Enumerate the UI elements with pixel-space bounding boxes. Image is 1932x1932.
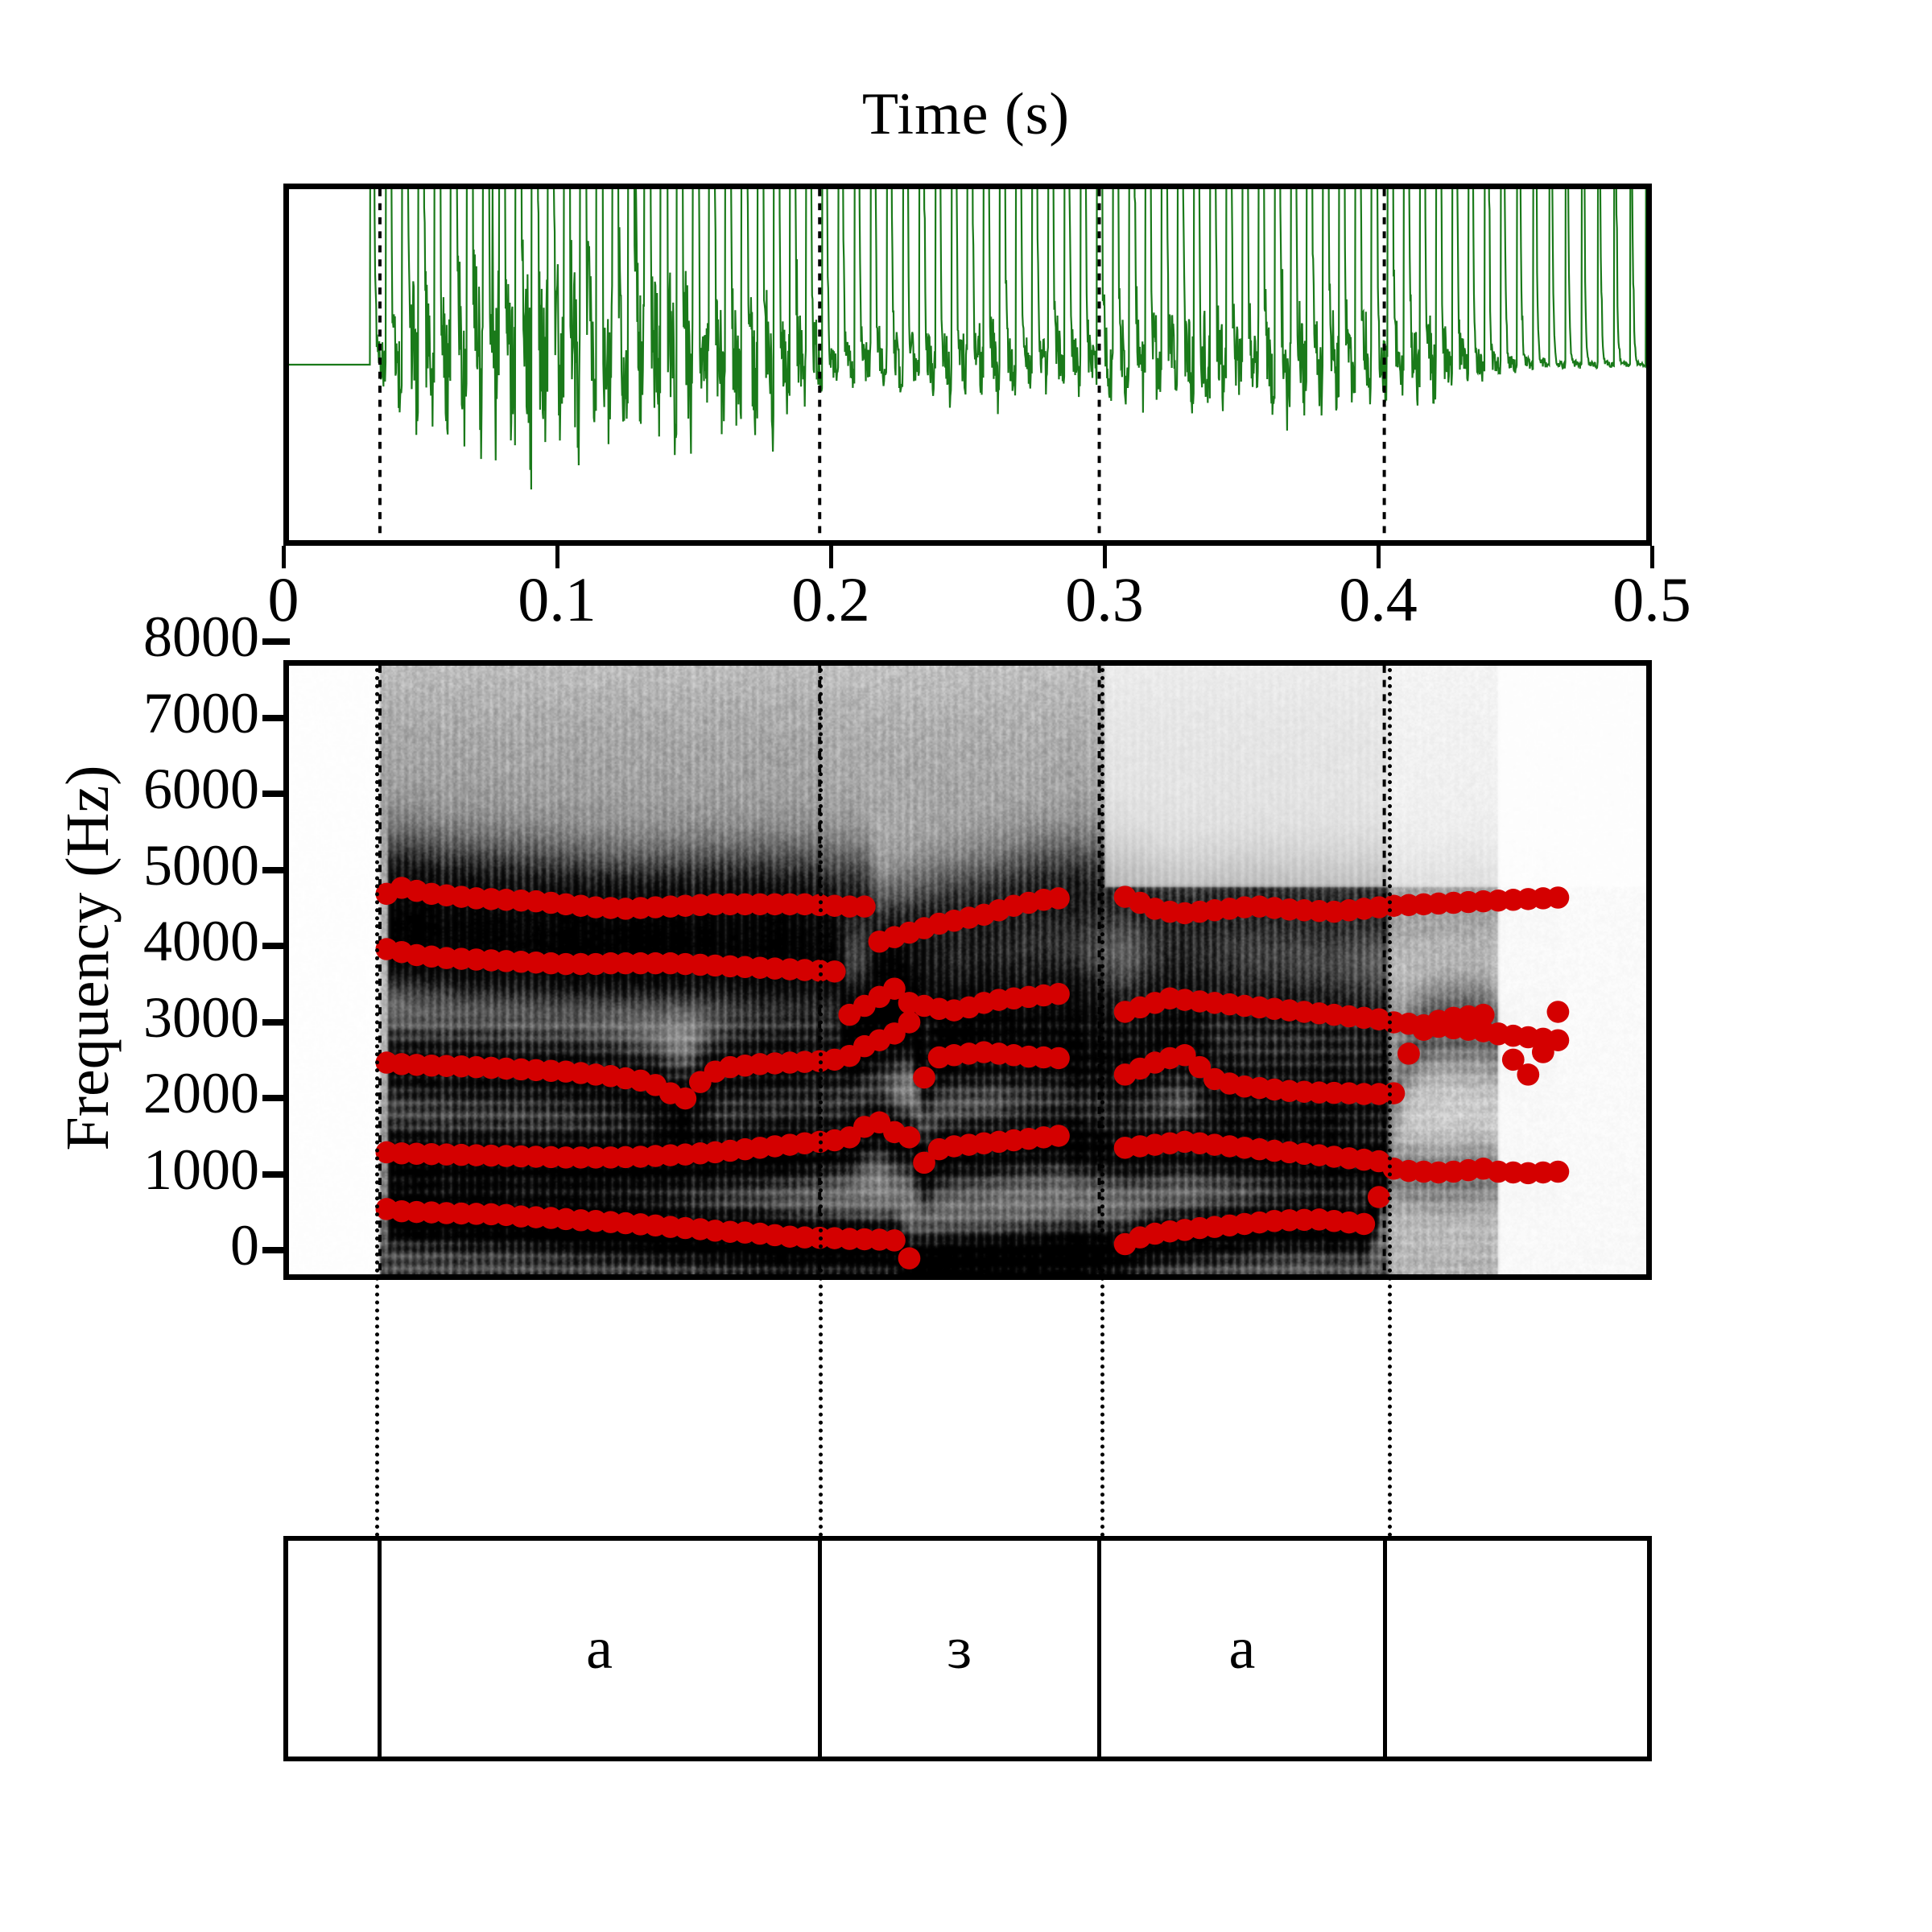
textgrid-interval[interactable]: ɜ <box>819 1541 1100 1757</box>
frequency-tick-mark <box>262 638 290 645</box>
formant-point <box>898 1126 921 1148</box>
formant-series-f4 <box>376 938 1570 1051</box>
textgrid-boundary[interactable] <box>818 1541 822 1757</box>
formant-point <box>913 1067 935 1088</box>
frequency-tick-label: 4000 <box>143 912 259 970</box>
frequency-tick-label: 7000 <box>143 684 259 742</box>
textgrid-tier[interactable]: aɜa <box>283 1536 1652 1761</box>
formant-point <box>1383 1082 1406 1104</box>
spectrogram-image <box>289 666 1646 1274</box>
frequency-tick-label: 8000 <box>143 608 259 666</box>
formant-point <box>1047 983 1070 1005</box>
formant-point <box>1547 1161 1570 1183</box>
formant-point <box>1047 1125 1070 1146</box>
textgrid-boundary[interactable] <box>1383 1541 1387 1757</box>
formant-point <box>1047 887 1070 909</box>
formant-series-f1 <box>376 1186 1390 1269</box>
textgrid-interval[interactable]: a <box>1100 1541 1385 1757</box>
waveform-panel <box>283 184 1652 546</box>
time-tick-label: 0.4 <box>1339 568 1418 631</box>
figure-root: Time (s) 00.10.20.30.40.5 Frequency (Hz)… <box>0 0 1932 1932</box>
page-title: Time (s) <box>0 80 1932 149</box>
formant-point <box>1352 1213 1375 1235</box>
formant-point <box>1547 886 1570 908</box>
textgrid-boundary[interactable] <box>1097 1541 1101 1757</box>
formant-point <box>1547 1029 1570 1051</box>
frequency-axis-label: Frequency (Hz) <box>53 652 118 1264</box>
frequency-tick-label: 3000 <box>143 989 259 1046</box>
formant-point <box>898 1247 921 1269</box>
formant-track-overlay <box>289 666 1646 1274</box>
time-tick-label: 0.1 <box>518 568 597 631</box>
formant-point <box>853 895 876 917</box>
time-tick-label: 0.5 <box>1612 568 1691 631</box>
time-tick-label: 0.3 <box>1065 568 1144 631</box>
textgrid-interval-label: a <box>586 1619 613 1678</box>
textgrid-interval[interactable]: a <box>379 1541 819 1757</box>
frequency-tick-label: 5000 <box>143 836 259 894</box>
formant-point <box>883 1229 906 1251</box>
waveform-trace <box>289 189 1646 489</box>
formant-point <box>674 1088 696 1109</box>
time-tick-label: 0 <box>268 568 299 631</box>
time-axis: 00.10.20.30.40.5 <box>283 546 1652 650</box>
formant-point <box>1047 1047 1070 1069</box>
formant-series-f2 <box>376 1112 1570 1185</box>
frequency-axis-ticks: 800070006000500040003000200010000 <box>121 636 290 1280</box>
textgrid-interval-label: ɜ <box>947 1619 972 1678</box>
formant-point <box>1368 1186 1390 1207</box>
textgrid-interval[interactable] <box>288 1541 379 1757</box>
formant-point <box>1397 1042 1420 1064</box>
time-tick-label: 0.2 <box>791 568 870 631</box>
frequency-tick-label: 1000 <box>143 1141 259 1199</box>
formant-series-f5 <box>376 877 1570 952</box>
waveform-plot <box>289 189 1646 540</box>
formant-point <box>1547 1001 1570 1022</box>
textgrid-interval[interactable] <box>1385 1541 1647 1757</box>
frequency-tick-label: 0 <box>230 1216 259 1274</box>
textgrid-boundary[interactable] <box>378 1541 382 1757</box>
formant-point <box>898 1011 921 1033</box>
textgrid-interval-label: a <box>1229 1619 1256 1678</box>
frequency-tick-label: 6000 <box>143 760 259 818</box>
spectrogram-panel <box>283 660 1652 1280</box>
formant-point <box>824 960 846 982</box>
formant-point <box>1517 1063 1539 1085</box>
frequency-tick-label: 2000 <box>143 1064 259 1122</box>
